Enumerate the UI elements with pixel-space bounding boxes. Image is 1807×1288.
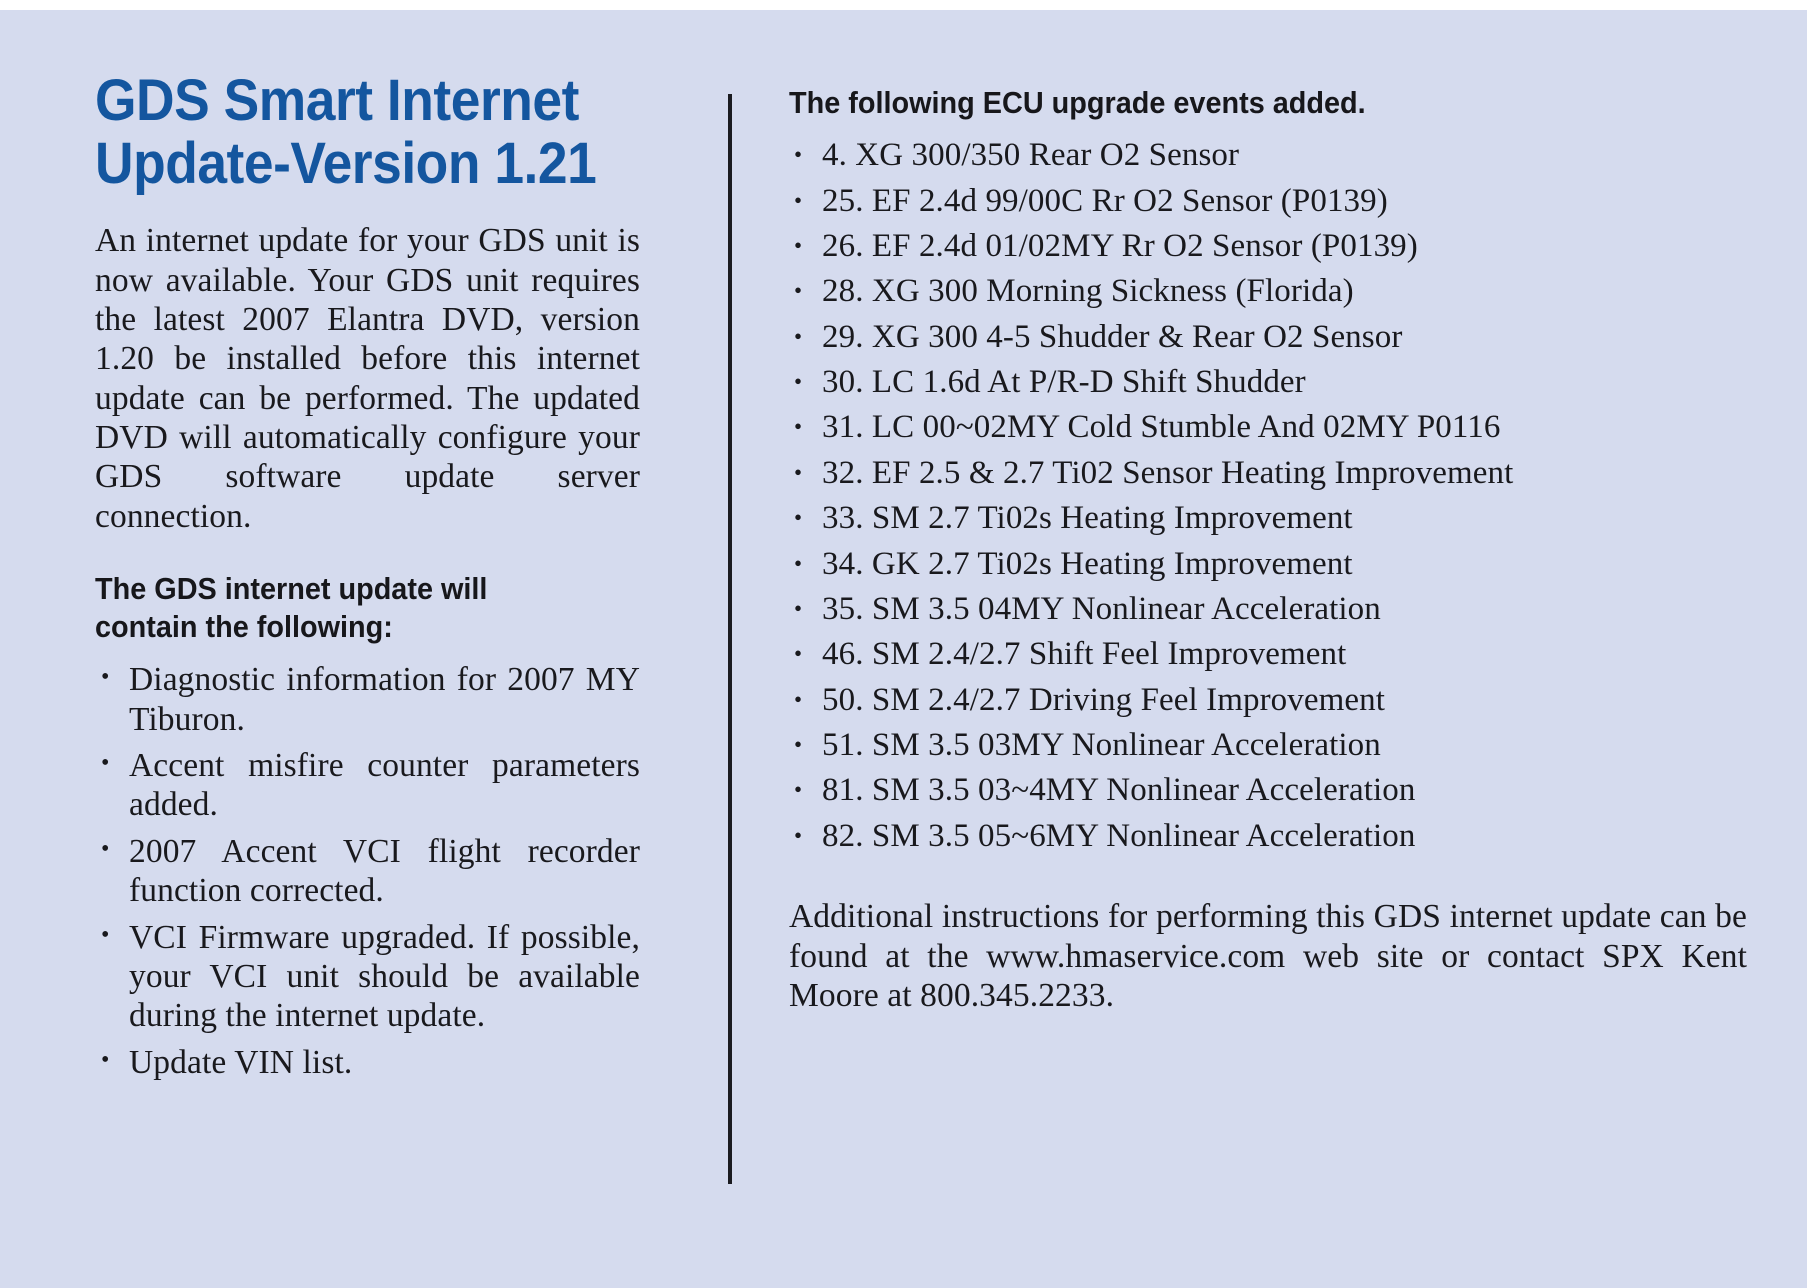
additional-instructions-paragraph: Additional instructions for performing t…	[789, 897, 1747, 1015]
ecu-events-heading: The following ECU upgrade events added.	[789, 84, 1680, 121]
two-column-layout: GDS Smart Internet Update-Version 1.21 A…	[0, 0, 1807, 1288]
list-item: Accent misfire counter parameters added.	[95, 746, 640, 825]
list-item: 32. EF 2.5 & 2.7 Ti02 Sensor Heating Imp…	[789, 451, 1747, 496]
right-column: The following ECU upgrade events added. …	[732, 70, 1747, 1248]
article-panel: GDS Smart Internet Update-Version 1.21 A…	[0, 0, 1807, 1288]
list-item: 82. SM 3.5 05~6MY Nonlinear Acceleration	[789, 814, 1747, 859]
update-contents-subheading: The GDS internet update will contain the…	[95, 570, 602, 646]
list-item: 25. EF 2.4d 99/00C Rr O2 Sensor (P0139)	[789, 179, 1747, 224]
list-item: Diagnostic information for 2007 MY Tibur…	[95, 660, 640, 739]
list-item: VCI Firmware upgraded. If possible, your…	[95, 918, 640, 1036]
intro-paragraph: An internet update for your GDS unit is …	[95, 221, 640, 536]
list-item: Update VIN list.	[95, 1043, 640, 1082]
ecu-events-list: 4. XG 300/350 Rear O2 Sensor 25. EF 2.4d…	[789, 133, 1747, 859]
list-item: 33. SM 2.7 Ti02s Heating Improvement	[789, 496, 1747, 541]
list-item: 81. SM 3.5 03~4MY Nonlinear Acceleration	[789, 768, 1747, 813]
list-item: 31. LC 00~02MY Cold Stumble And 02MY P01…	[789, 405, 1747, 450]
page-title: GDS Smart Internet Update-Version 1.21	[95, 70, 596, 195]
list-item: 28. XG 300 Morning Sickness (Florida)	[789, 269, 1747, 314]
list-item: 2007 Accent VCI flight recorder function…	[95, 832, 640, 911]
list-item: 26. EF 2.4d 01/02MY Rr O2 Sensor (P0139)	[789, 224, 1747, 269]
list-item: 29. XG 300 4-5 Shudder & Rear O2 Sensor	[789, 315, 1747, 360]
left-column: GDS Smart Internet Update-Version 1.21 A…	[95, 70, 650, 1248]
list-item: 30. LC 1.6d At P/R-D Shift Shudder	[789, 360, 1747, 405]
update-contents-list: Diagnostic information for 2007 MY Tibur…	[95, 660, 640, 1082]
list-item: 51. SM 3.5 03MY Nonlinear Acceleration	[789, 723, 1747, 768]
list-item: 4. XG 300/350 Rear O2 Sensor	[789, 133, 1747, 178]
list-item: 50. SM 2.4/2.7 Driving Feel Improvement	[789, 678, 1747, 723]
list-item: 34. GK 2.7 Ti02s Heating Improvement	[789, 542, 1747, 587]
list-item: 35. SM 3.5 04MY Nonlinear Acceleration	[789, 587, 1747, 632]
list-item: 46. SM 2.4/2.7 Shift Feel Improvement	[789, 632, 1747, 677]
